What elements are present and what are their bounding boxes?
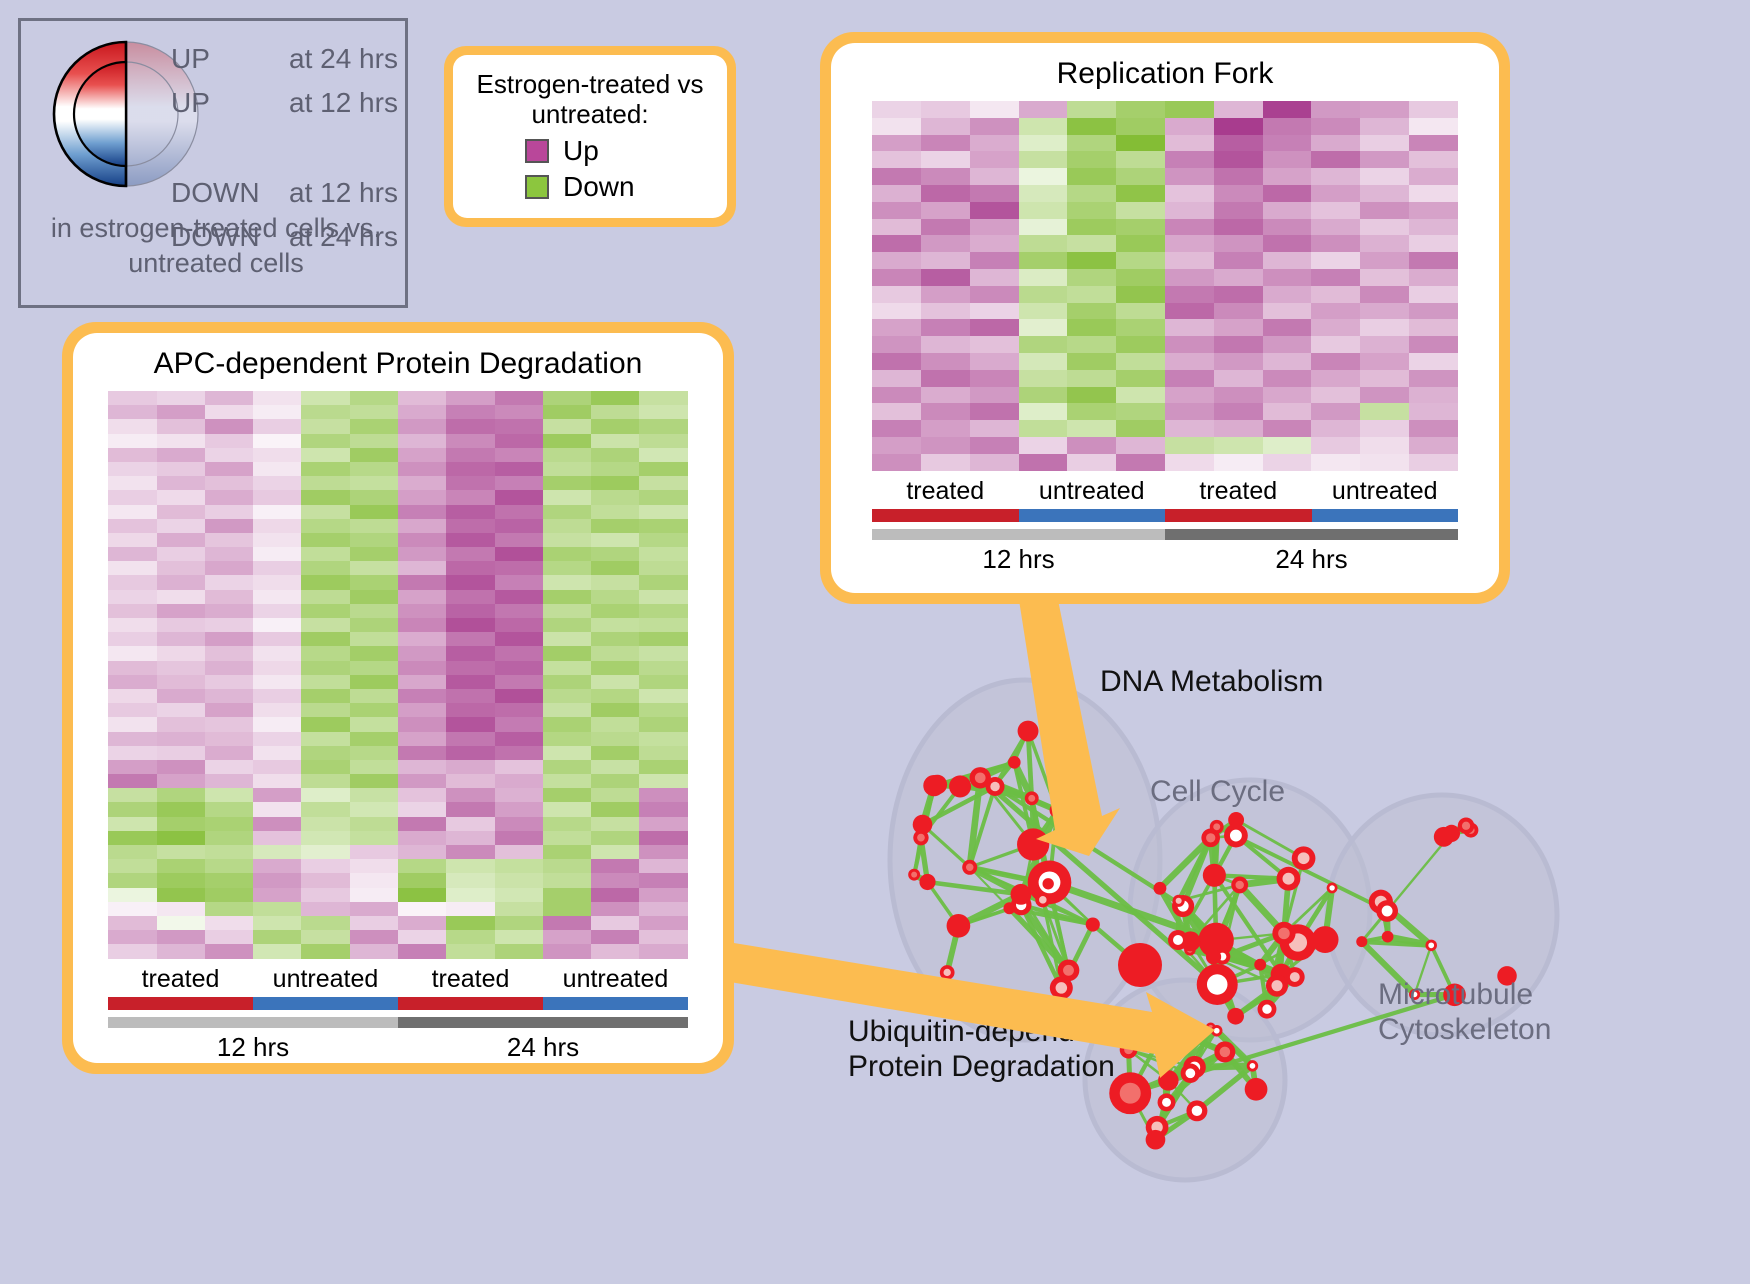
- heatmap-cell: [921, 135, 970, 152]
- heatmap-cell: [1067, 118, 1116, 135]
- network-node[interactable]: [1203, 864, 1226, 887]
- heatmap-cell: [639, 703, 687, 717]
- pathway-network-diagram: DNA Metabolism Cell Cycle Microtubule Cy…: [770, 610, 1750, 1279]
- network-node-outer: [1017, 828, 1049, 860]
- network-node-core: [1262, 1004, 1271, 1013]
- heatmap-cell: [446, 661, 494, 675]
- heatmap-cell: [350, 689, 398, 703]
- heatmap-cell: [1116, 135, 1165, 152]
- heatmap-cell: [921, 151, 970, 168]
- panel-apc-degradation: APC-dependent Protein Degradation treate…: [62, 322, 734, 1074]
- heatmap-cell: [253, 845, 301, 859]
- heatmap-cell: [1311, 269, 1360, 286]
- network-node[interactable]: [1118, 943, 1162, 987]
- heatmap-cell: [591, 746, 639, 760]
- heatmap-cell: [350, 703, 398, 717]
- heatmap-cell: [639, 391, 687, 405]
- heatmap-cell: [253, 859, 301, 873]
- heatmap-cell: [301, 505, 349, 519]
- heatmap-cell: [1214, 387, 1263, 404]
- heatmap-cell: [253, 817, 301, 831]
- heatmap-cell: [205, 944, 253, 958]
- heatmap-cell: [108, 661, 156, 675]
- heatmap-cell: [543, 916, 591, 930]
- network-node[interactable]: [1035, 892, 1050, 907]
- group-label: treated: [872, 477, 1019, 506]
- heatmap-cell: [108, 689, 156, 703]
- heatmap-cell: [108, 419, 156, 433]
- network-node[interactable]: [1086, 917, 1100, 931]
- heatmap-cell: [1067, 135, 1116, 152]
- heatmap-cell: [157, 916, 205, 930]
- network-node[interactable]: [1356, 936, 1367, 947]
- heatmap-cell: [157, 646, 205, 660]
- network-node[interactable]: [1292, 846, 1316, 870]
- heatmap-cell: [205, 561, 253, 575]
- network-node-core: [1290, 972, 1300, 982]
- time-label: 12 hrs: [108, 1032, 398, 1063]
- heatmap-cell: [1311, 202, 1360, 219]
- heatmap-cell: [1116, 387, 1165, 404]
- network-node[interactable]: [949, 775, 971, 797]
- network-node[interactable]: [1153, 882, 1166, 895]
- heatmap-cell: [543, 817, 591, 831]
- heatmap-cell: [591, 505, 639, 519]
- heatmap-cell: [1019, 387, 1068, 404]
- heatmap-cell: [398, 902, 446, 916]
- heatmap-cell: [543, 675, 591, 689]
- heatmap-cell: [1214, 403, 1263, 420]
- network-node-core: [944, 969, 951, 976]
- heatmap-cell: [108, 533, 156, 547]
- heatmap-cell: [398, 689, 446, 703]
- heatmap-cell: [253, 930, 301, 944]
- heatmap-cell: [543, 661, 591, 675]
- heatmap-cell: [205, 405, 253, 419]
- heatmap-cell: [1409, 437, 1458, 454]
- network-node[interactable]: [1050, 976, 1073, 999]
- heatmap-cell: [446, 831, 494, 845]
- heatmap-cell: [1214, 286, 1263, 303]
- heatmap-cell: [543, 448, 591, 462]
- heatmap-cell: [1165, 319, 1214, 336]
- heatmap-cell: [1263, 370, 1312, 387]
- heatmap-cell: [205, 717, 253, 731]
- network-node[interactable]: [1425, 940, 1437, 952]
- heatmap-cell: [446, 873, 494, 887]
- heatmap-cell: [446, 547, 494, 561]
- network-node[interactable]: [1201, 829, 1220, 848]
- heatmap-cell: [108, 632, 156, 646]
- heatmap-cell: [301, 873, 349, 887]
- network-node-core: [1120, 1083, 1141, 1104]
- heatmap-cell: [446, 448, 494, 462]
- heatmap-cell: [108, 434, 156, 448]
- heatmap-cell: [921, 185, 970, 202]
- heatmap-cell: [1409, 235, 1458, 252]
- heatmap-cell: [398, 590, 446, 604]
- heatmap-cell: [398, 632, 446, 646]
- heatmap-cell: [398, 675, 446, 689]
- heatmap-cell: [1067, 286, 1116, 303]
- heatmap-cell: [350, 448, 398, 462]
- heatmap-cell: [872, 202, 921, 219]
- heatmap-cell: [205, 916, 253, 930]
- heatmap-cell: [921, 387, 970, 404]
- heatmap-cell: [1263, 303, 1312, 320]
- heatmap-cell: [1409, 387, 1458, 404]
- network-node[interactable]: [919, 874, 935, 890]
- legend-title: Estrogen-treated vs untreated:: [463, 69, 717, 129]
- heatmap-cell: [921, 286, 970, 303]
- heatmap-cell: [495, 788, 543, 802]
- heatmap-cell: [1409, 202, 1458, 219]
- heatmap-cell: [639, 604, 687, 618]
- network-node[interactable]: [962, 860, 977, 875]
- network-node[interactable]: [1042, 878, 1053, 889]
- heatmap-cell: [1409, 269, 1458, 286]
- heatmap-cell: [1019, 219, 1068, 236]
- heatmap-cell: [872, 101, 921, 118]
- network-node[interactable]: [908, 869, 920, 881]
- heatmap-cell: [301, 604, 349, 618]
- network-node[interactable]: [928, 775, 948, 795]
- heatmap-cell: [543, 873, 591, 887]
- network-node[interactable]: [1197, 964, 1238, 1005]
- network-node-outer: [1018, 721, 1039, 742]
- network-node[interactable]: [1258, 1000, 1277, 1019]
- network-node[interactable]: [1018, 721, 1039, 742]
- network-node[interactable]: [1327, 882, 1338, 893]
- heatmap-cell: [350, 632, 398, 646]
- heatmap-cell: [253, 632, 301, 646]
- heatmap-cell: [157, 618, 205, 632]
- heatmap-cell: [591, 490, 639, 504]
- heatmap-cell: [157, 831, 205, 845]
- heatmap-cell: [495, 490, 543, 504]
- heatmap-cell: [350, 873, 398, 887]
- heatmap-cell: [591, 434, 639, 448]
- heatmap-cell: [301, 859, 349, 873]
- heatmap-cell: [543, 703, 591, 717]
- network-node-core: [911, 872, 917, 878]
- time-labels-apc: 12 hrs 24 hrs: [108, 1032, 688, 1063]
- heatmap-cell: [1263, 269, 1312, 286]
- network-node[interactable]: [1158, 1093, 1176, 1111]
- heatmap-cell: [921, 235, 970, 252]
- heatmap-cell: [1409, 101, 1458, 118]
- heatmap-cell: [157, 490, 205, 504]
- group-swatch-treated: [398, 997, 543, 1010]
- heatmap-cell: [495, 732, 543, 746]
- heatmap-cell: [398, 717, 446, 731]
- heatmap-cell: [1263, 151, 1312, 168]
- heatmap-cell: [1019, 353, 1068, 370]
- heatmap-cell: [1360, 370, 1409, 387]
- heatmap-cell: [495, 817, 543, 831]
- heatmap-cell: [1311, 420, 1360, 437]
- network-node[interactable]: [1227, 1008, 1244, 1025]
- heatmap-cell: [495, 689, 543, 703]
- heatmap-cell: [157, 732, 205, 746]
- group-colorbar-replication-fork: [872, 509, 1458, 522]
- network-node[interactable]: [1382, 931, 1394, 943]
- heatmap-cell: [301, 732, 349, 746]
- heatmap-cell: [639, 533, 687, 547]
- heatmap-cell: [446, 391, 494, 405]
- heatmap-cell: [398, 575, 446, 589]
- heatmap-cell: [1360, 403, 1409, 420]
- network-node[interactable]: [1186, 1100, 1207, 1121]
- network-node[interactable]: [1266, 975, 1288, 997]
- heatmap-cell: [1019, 303, 1068, 320]
- heatmap-cell: [157, 561, 205, 575]
- network-node[interactable]: [1050, 803, 1065, 818]
- group-swatch-treated: [108, 997, 253, 1010]
- heatmap-cell: [495, 462, 543, 476]
- heatmap-cell: [543, 476, 591, 490]
- heatmap-cell: [1409, 185, 1458, 202]
- network-node[interactable]: [947, 914, 971, 938]
- network-node-outer: [1146, 1130, 1166, 1150]
- heatmap-cell: [108, 760, 156, 774]
- heatmap-cell: [1311, 151, 1360, 168]
- heatmap-cell: [1067, 303, 1116, 320]
- heatmap-cell: [970, 185, 1019, 202]
- network-node-core: [1214, 1028, 1220, 1034]
- heatmap-cell: [591, 930, 639, 944]
- heatmap-cell: [495, 547, 543, 561]
- heatmap-cell: [591, 646, 639, 660]
- legend-item-label: Up: [563, 135, 599, 167]
- heatmap-cell: [1019, 135, 1068, 152]
- heatmap-cell: [639, 434, 687, 448]
- heatmap-cell: [157, 717, 205, 731]
- network-node[interactable]: [986, 777, 1005, 796]
- heatmap-cell: [495, 505, 543, 519]
- network-node[interactable]: [1011, 884, 1032, 905]
- heatmap-cell: [108, 817, 156, 831]
- heatmap-cell: [253, 519, 301, 533]
- heatmap-cell: [543, 689, 591, 703]
- network-node[interactable]: [1214, 1041, 1235, 1062]
- heatmap-cell: [157, 462, 205, 476]
- network-node[interactable]: [1158, 1070, 1178, 1090]
- up-swatch: [525, 139, 549, 163]
- network-node-outer: [1173, 1025, 1185, 1037]
- group-label: untreated: [253, 965, 398, 994]
- heatmap-cell: [253, 405, 301, 419]
- network-node[interactable]: [1168, 930, 1188, 950]
- heatmap-cell: [1360, 303, 1409, 320]
- heatmap-cell: [543, 717, 591, 731]
- heatmap-cell: [872, 319, 921, 336]
- heatmap-cell: [1165, 403, 1214, 420]
- heatmap-cell: [1067, 101, 1116, 118]
- heatmap-cell: [1263, 403, 1312, 420]
- network-node-outer: [947, 914, 971, 938]
- heatmap-cell: [301, 448, 349, 462]
- heatmap-cell: [108, 902, 156, 916]
- time-swatch-12hrs: [108, 1017, 398, 1028]
- heatmap-cell: [970, 454, 1019, 471]
- heatmap-cell: [495, 519, 543, 533]
- heatmap-cell: [301, 703, 349, 717]
- heatmap-cell: [398, 391, 446, 405]
- heatmap-cell: [1165, 168, 1214, 185]
- heatmap-cell: [495, 590, 543, 604]
- heatmap-cell: [1116, 319, 1165, 336]
- heatmap-cell: [970, 101, 1019, 118]
- network-node[interactable]: [1155, 1017, 1176, 1038]
- network-node[interactable]: [1254, 959, 1266, 971]
- network-node[interactable]: [1173, 1025, 1185, 1037]
- heatmap-cell: [108, 732, 156, 746]
- network-node[interactable]: [1120, 1041, 1138, 1059]
- heatmap-cell: [157, 760, 205, 774]
- heatmap-cell: [639, 717, 687, 731]
- panel-title: APC-dependent Protein Degradation: [154, 347, 643, 381]
- heatmap-cell: [253, 916, 301, 930]
- network-node[interactable]: [1025, 791, 1039, 805]
- heatmap-cell: [1067, 185, 1116, 202]
- heatmap-cell: [157, 391, 205, 405]
- heatmap-cell: [157, 845, 205, 859]
- network-node[interactable]: [913, 830, 928, 845]
- heatmap-cell: [205, 490, 253, 504]
- heatmap-cell: [1116, 454, 1165, 471]
- heatmap-cell: [108, 888, 156, 902]
- network-node[interactable]: [1017, 828, 1049, 860]
- heatmap-cell: [350, 476, 398, 490]
- network-node[interactable]: [1173, 895, 1185, 907]
- heatmap-cell: [495, 859, 543, 873]
- network-node[interactable]: [1458, 818, 1475, 835]
- heatmap-cell: [543, 575, 591, 589]
- heatmap-cell: [1019, 151, 1068, 168]
- heatmap-cell: [872, 454, 921, 471]
- heatmap-cell: [301, 434, 349, 448]
- heatmap-cell: [398, 732, 446, 746]
- heatmap-cell: [543, 462, 591, 476]
- heatmap-cell: [1360, 151, 1409, 168]
- heatmap-cell: [1360, 420, 1409, 437]
- color-key-row: UP at 24 hrs: [171, 45, 411, 73]
- heatmap-cell: [301, 746, 349, 760]
- heatmap-cell: [639, 419, 687, 433]
- heatmap-cell: [157, 476, 205, 490]
- heatmap-cell: [872, 336, 921, 353]
- heatmap-cell: [350, 490, 398, 504]
- heatmap-cell: [301, 476, 349, 490]
- heatmap-cell: [205, 646, 253, 660]
- network-node[interactable]: [1272, 922, 1295, 945]
- heatmap-cell: [253, 505, 301, 519]
- network-node[interactable]: [1181, 1064, 1200, 1083]
- heatmap-cell: [446, 575, 494, 589]
- network-node[interactable]: [1376, 900, 1398, 922]
- heatmap-cell: [639, 490, 687, 504]
- heatmap-cell: [350, 859, 398, 873]
- heatmap-cell: [591, 632, 639, 646]
- heatmap-cell: [253, 434, 301, 448]
- network-node[interactable]: [1231, 876, 1248, 893]
- heatmap-cell: [1311, 101, 1360, 118]
- heatmap-cell: [639, 476, 687, 490]
- network-node[interactable]: [1146, 1130, 1166, 1150]
- heatmap-cell: [1116, 269, 1165, 286]
- heatmap-cell: [253, 618, 301, 632]
- network-node[interactable]: [1224, 824, 1248, 848]
- heatmap-cell: [205, 632, 253, 646]
- heatmap-cell: [1067, 403, 1116, 420]
- network-node[interactable]: [1247, 1060, 1258, 1071]
- heatmap-cell: [301, 490, 349, 504]
- heatmap-cell: [253, 902, 301, 916]
- heatmap-cell: [301, 632, 349, 646]
- heatmap-cell: [398, 419, 446, 433]
- heatmap-cell: [1116, 336, 1165, 353]
- heatmap-cell: [591, 448, 639, 462]
- heatmap-cell: [253, 831, 301, 845]
- network-node[interactable]: [940, 965, 955, 980]
- heatmap-cell: [1311, 303, 1360, 320]
- heatmap-cell: [1116, 168, 1165, 185]
- heatmap-cell: [543, 391, 591, 405]
- heatmap-cell: [495, 533, 543, 547]
- heatmap-cell: [446, 802, 494, 816]
- heatmap-cell: [970, 235, 1019, 252]
- heatmap-cell: [1263, 437, 1312, 454]
- heatmap-cell: [921, 319, 970, 336]
- network-node-outer: [949, 775, 971, 797]
- heatmap-cell: [872, 219, 921, 236]
- network-node[interactable]: [1206, 949, 1221, 964]
- heatmap-cell: [1067, 370, 1116, 387]
- heatmap-cell: [446, 703, 494, 717]
- heatmap-cell: [591, 547, 639, 561]
- group-swatch-untreated: [253, 997, 398, 1010]
- heatmap-cell: [301, 533, 349, 547]
- heatmap-cell: [398, 505, 446, 519]
- heatmap-cell: [108, 505, 156, 519]
- heatmap-cell: [1263, 252, 1312, 269]
- network-node[interactable]: [1443, 825, 1460, 842]
- heatmap-cell: [1116, 202, 1165, 219]
- heatmap-cell: [1067, 168, 1116, 185]
- heatmap-cell: [543, 760, 591, 774]
- heatmap-cell: [543, 774, 591, 788]
- network-node[interactable]: [1245, 1078, 1268, 1101]
- network-node[interactable]: [1008, 756, 1021, 769]
- network-node-core: [1220, 1047, 1231, 1058]
- heatmap-cell: [446, 490, 494, 504]
- heatmap-cell: [921, 168, 970, 185]
- heatmap-cell: [591, 845, 639, 859]
- network-node[interactable]: [1277, 867, 1301, 891]
- heatmap-cell: [446, 774, 494, 788]
- network-node[interactable]: [1211, 1025, 1223, 1037]
- network-node[interactable]: [1285, 967, 1305, 987]
- heatmap-cell: [1409, 370, 1458, 387]
- heatmap-cell: [639, 944, 687, 958]
- time-swatch-12hrs: [872, 529, 1165, 540]
- heatmap-cell: [970, 319, 1019, 336]
- heatmap-cell: [398, 888, 446, 902]
- heatmap-cell: [1067, 336, 1116, 353]
- network-node-core: [1250, 1063, 1256, 1069]
- panel-title: Replication Fork: [1057, 57, 1274, 91]
